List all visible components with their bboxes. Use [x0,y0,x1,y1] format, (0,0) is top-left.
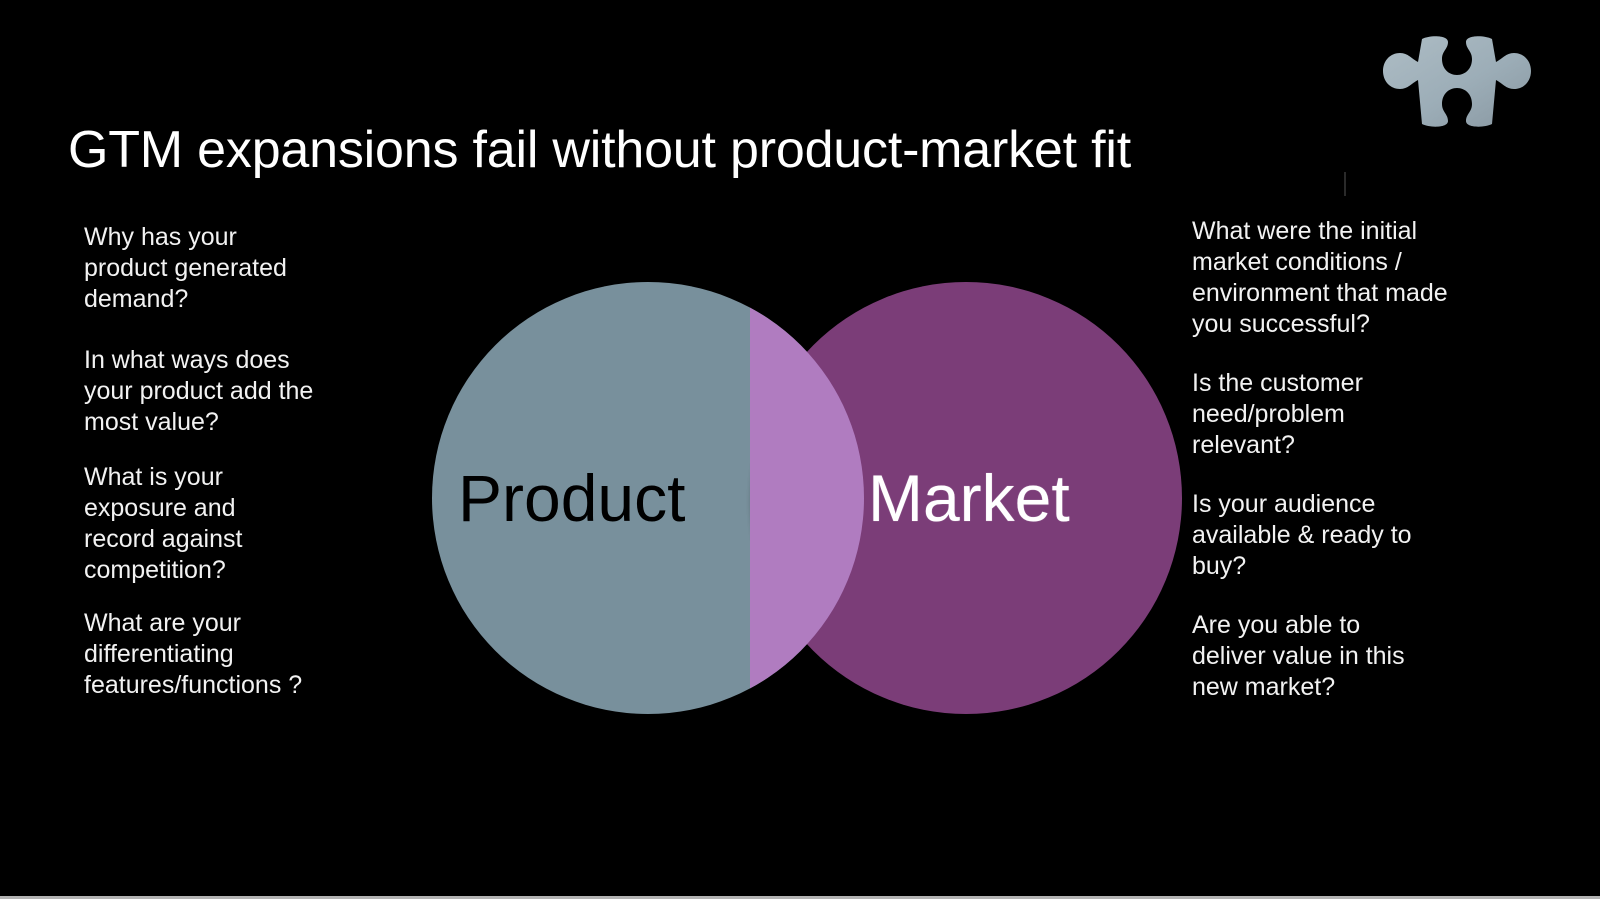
venn-label-market: Market [750,282,1182,714]
market-question-4: Are you able to deliver value in this ne… [1192,610,1512,703]
product-questions-column: Why has your product generated demand? I… [84,222,384,731]
slide-canvas: GTM expansions fail without product-mark… [0,0,1600,899]
title-divider-tick [1344,172,1346,196]
product-question-1: Why has your product generated demand? [84,222,384,315]
product-question-4: What are your differentiating features/f… [84,608,384,701]
product-question-3: What is your exposure and record against… [84,462,384,586]
page-title: GTM expansions fail without product-mark… [68,121,1388,179]
venn-diagram: Product Market [432,282,1182,714]
product-question-2: In what ways does your product add the m… [84,345,384,438]
market-question-2: Is the customer need/problem relevant? [1192,368,1512,461]
market-question-1: What were the initial market conditions … [1192,216,1512,340]
market-question-3: Is your audience available & ready to bu… [1192,489,1512,582]
puzzle-piece-icon [1378,23,1534,147]
market-questions-column: What were the initial market conditions … [1192,216,1512,731]
